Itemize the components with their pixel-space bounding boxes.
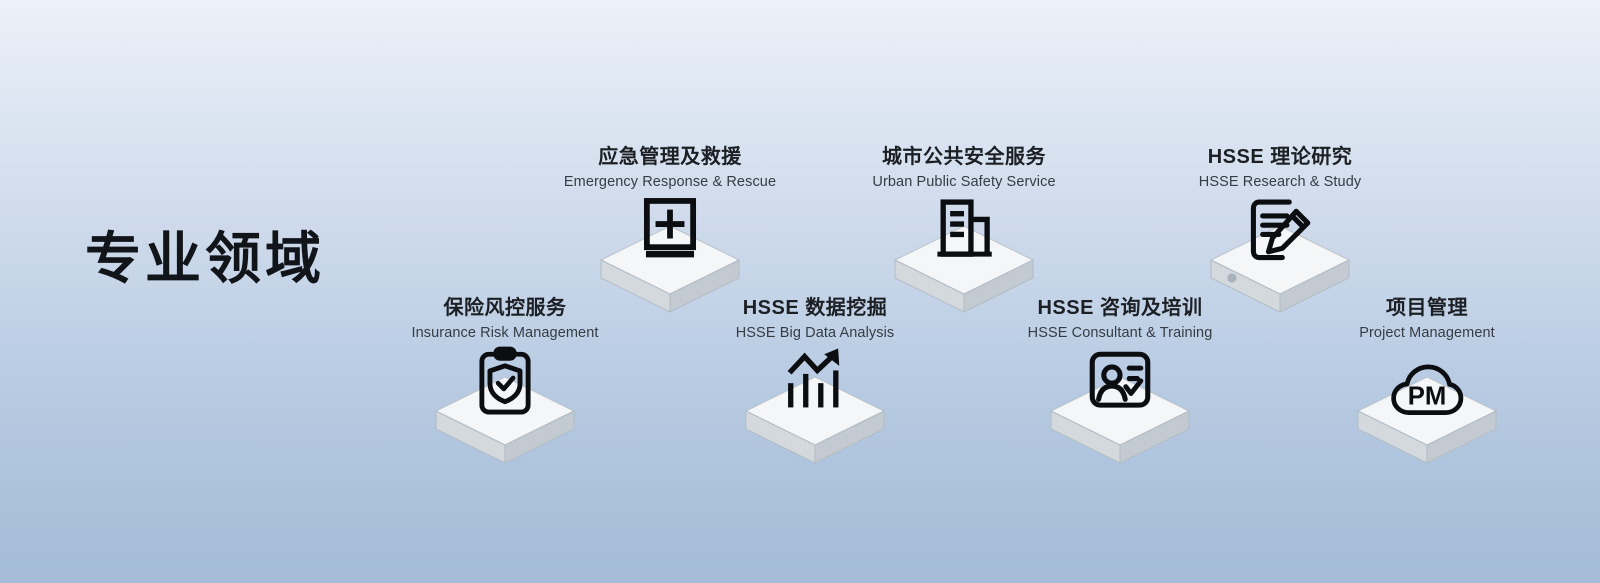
domain-icon-stack[interactable]: PM bbox=[1352, 349, 1502, 469]
domain-labels: 应急管理及救援 Emergency Response & Rescue bbox=[555, 145, 785, 192]
domain-label-en: HSSE Consultant & Training bbox=[1005, 323, 1235, 343]
domain-labels: HSSE 理论研究 HSSE Research & Study bbox=[1165, 145, 1395, 192]
domain-label-en: Project Management bbox=[1312, 323, 1542, 343]
clipboard-shield-check-icon bbox=[468, 345, 542, 419]
person-id-card-check-icon bbox=[1083, 345, 1157, 419]
domain-label-cn: 应急管理及救援 bbox=[555, 145, 785, 170]
medical-plus-document-icon bbox=[633, 194, 707, 268]
page-title: 专业领域 bbox=[85, 228, 325, 290]
domain-item-hsse-consultant-training[interactable]: HSSE 咨询及培训 HSSE Consultant & Training bbox=[1005, 296, 1235, 469]
domain-icon-stack[interactable] bbox=[1045, 349, 1195, 469]
domain-label-cn: HSSE 理论研究 bbox=[1165, 145, 1395, 170]
domain-item-hsse-research-study[interactable]: HSSE 理论研究 HSSE Research & Study bbox=[1165, 145, 1395, 318]
domain-label-cn: 城市公共安全服务 bbox=[851, 145, 1077, 170]
domain-labels: 城市公共安全服务 Urban Public Safety Service bbox=[851, 145, 1077, 192]
domain-item-project-management[interactable]: 项目管理 Project Management PM bbox=[1312, 296, 1542, 469]
domain-label-en: Insurance Risk Management bbox=[390, 323, 620, 343]
domain-item-emergency-response-rescue[interactable]: 应急管理及救援 Emergency Response & Rescue bbox=[555, 145, 785, 318]
cloud-pm-icon: PM bbox=[1390, 353, 1464, 427]
domain-label-cn: 项目管理 bbox=[1312, 296, 1542, 321]
domain-icon-stack[interactable] bbox=[740, 349, 890, 469]
domain-label-en: Emergency Response & Rescue bbox=[555, 172, 785, 192]
domain-labels: 项目管理 Project Management bbox=[1312, 296, 1542, 343]
domain-label-en: HSSE Research & Study bbox=[1165, 172, 1395, 192]
domain-item-hsse-big-data-analysis[interactable]: HSSE 数据挖掘 HSSE Big Data Analysis bbox=[700, 296, 930, 469]
domain-label-en: HSSE Big Data Analysis bbox=[700, 323, 930, 343]
bar-chart-trend-arrow-icon bbox=[778, 345, 852, 419]
domain-icon-stack[interactable] bbox=[430, 349, 580, 469]
professional-domains-banner: 专业领域 保险风控服务 Insurance Risk Management bbox=[0, 0, 1600, 583]
domain-item-urban-public-safety-service[interactable]: 城市公共安全服务 Urban Public Safety Service bbox=[851, 145, 1077, 318]
cloud-pm-label: PM bbox=[1408, 383, 1447, 411]
domain-label-en: Urban Public Safety Service bbox=[851, 172, 1077, 192]
domain-item-insurance-risk-management[interactable]: 保险风控服务 Insurance Risk Management bbox=[390, 296, 620, 469]
document-pencil-icon bbox=[1243, 194, 1317, 268]
city-buildings-icon bbox=[927, 194, 1001, 268]
